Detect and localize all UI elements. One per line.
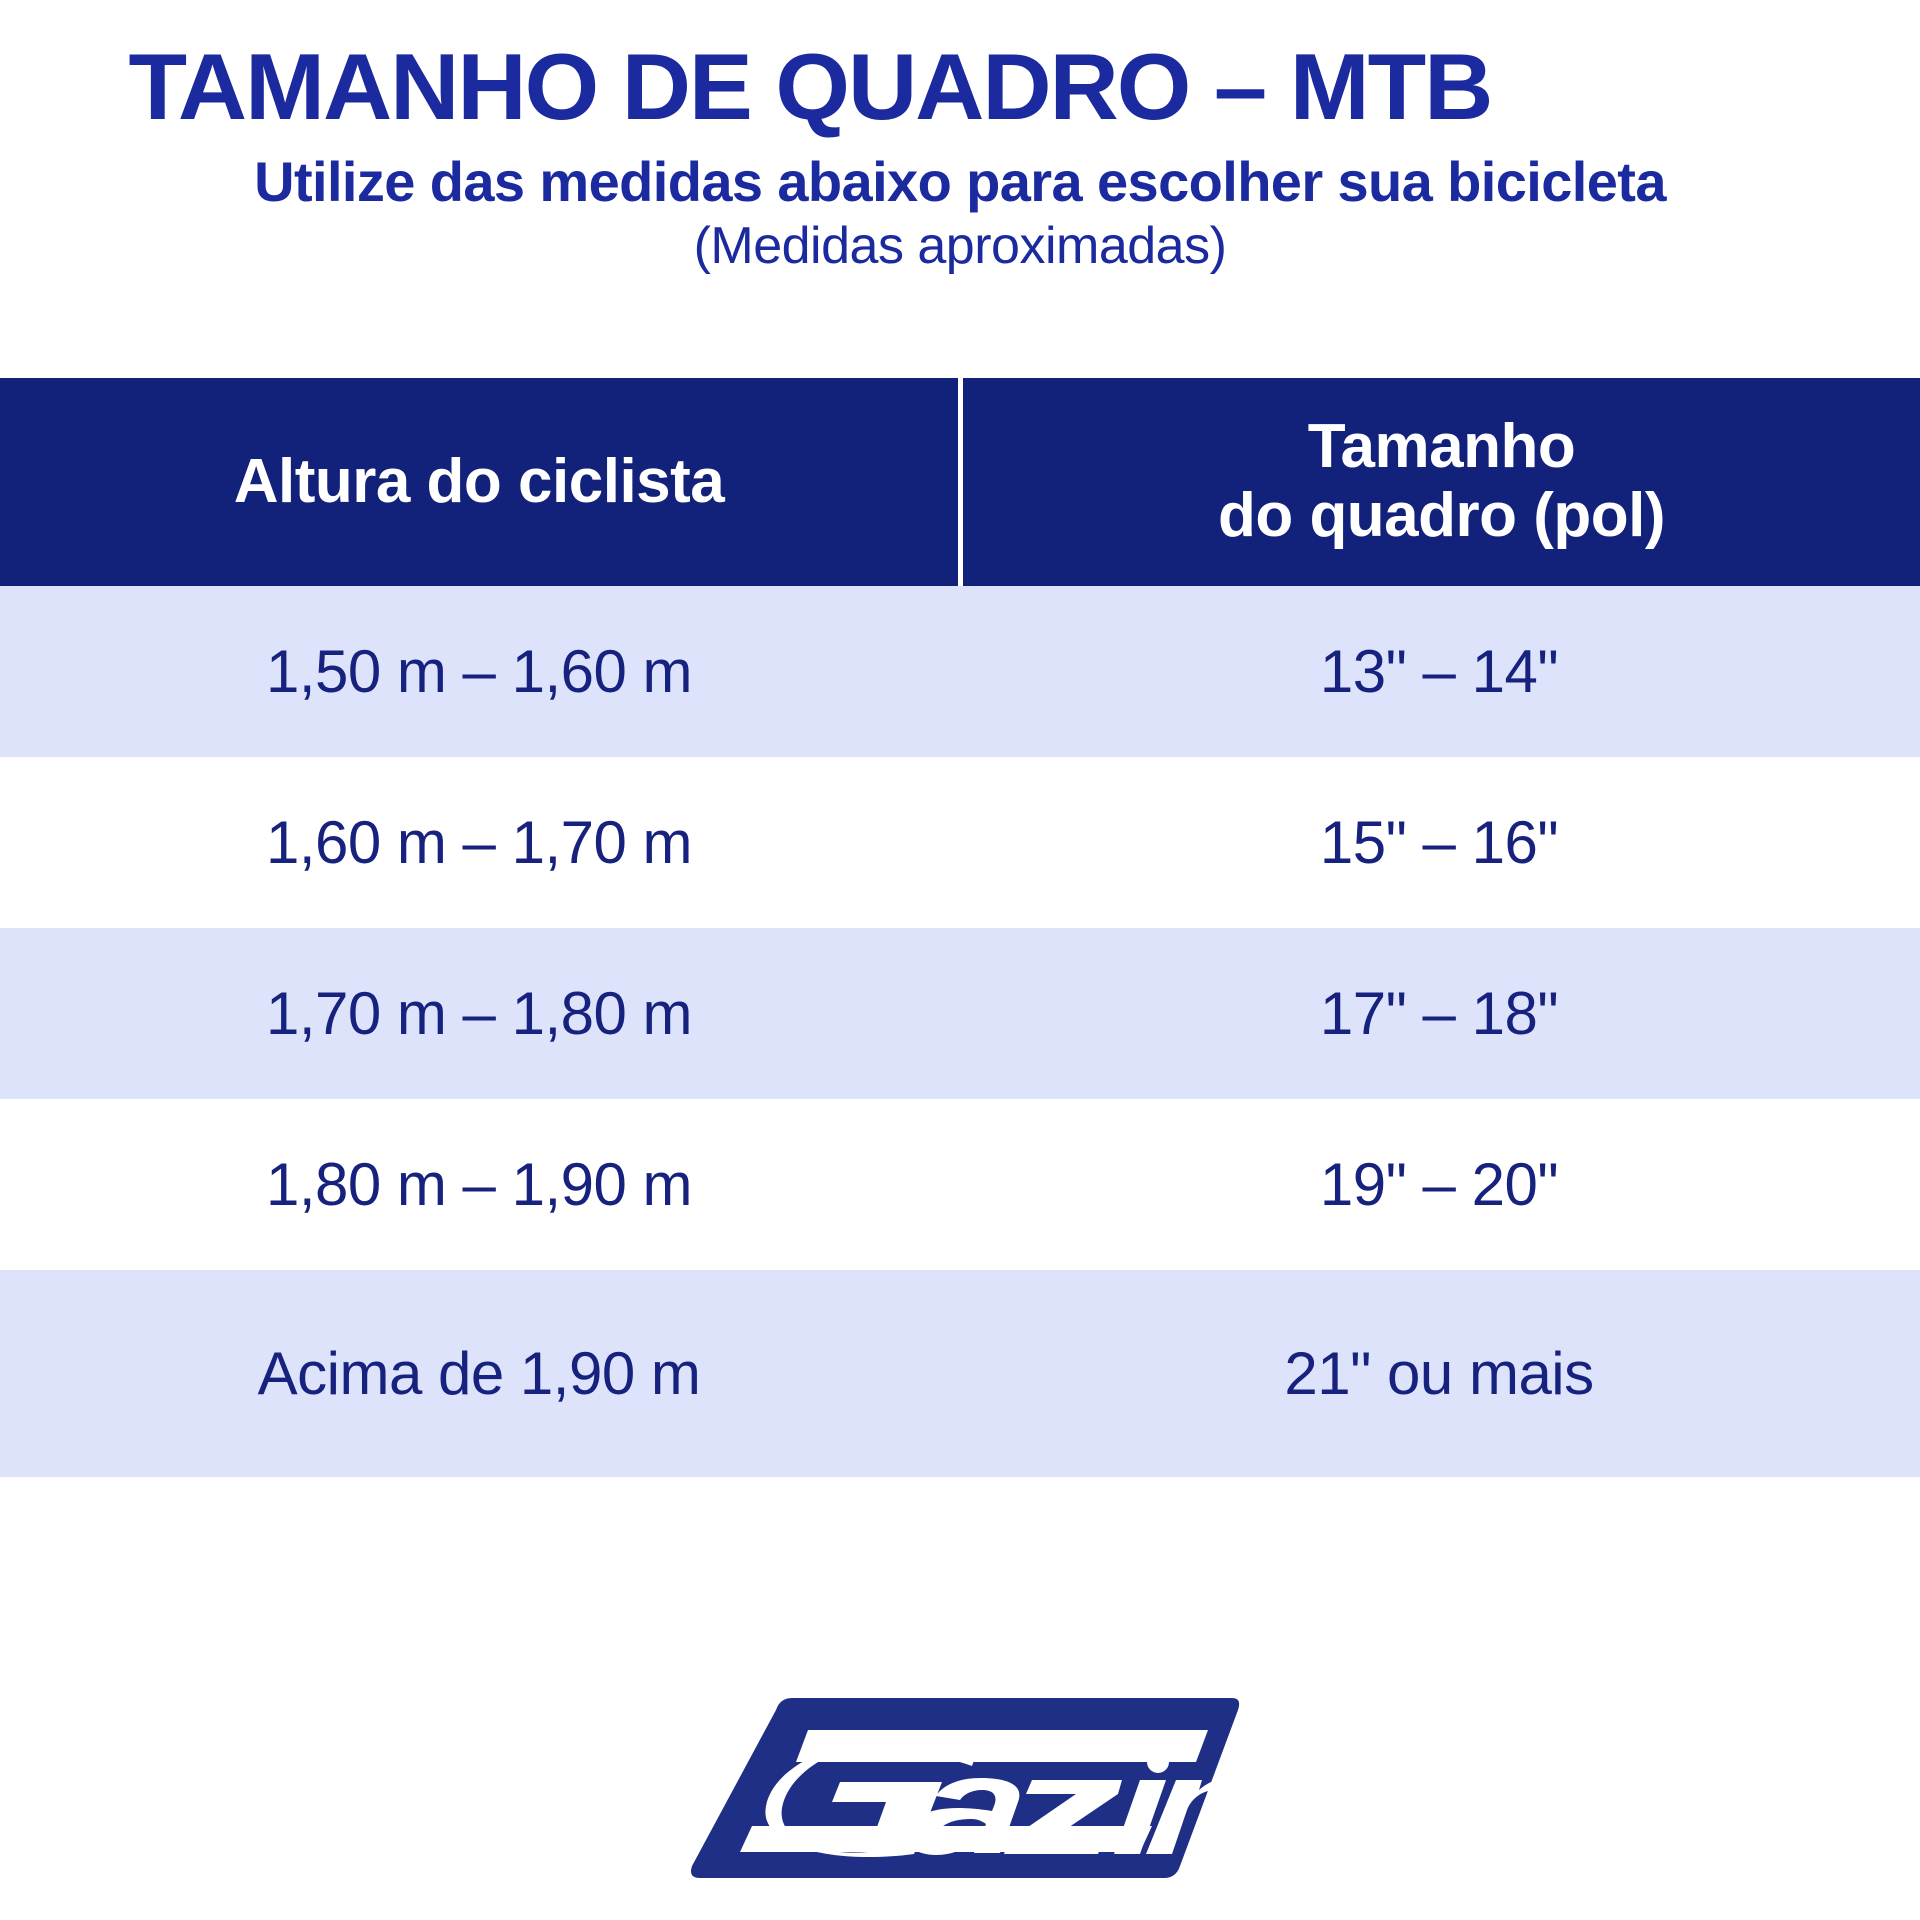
cell-rider-height: 1,70 m – 1,80 m (0, 979, 958, 1048)
page-header: TAMANHO DE QUADRO – MTB Utilize das medi… (0, 0, 1920, 275)
column-header-frame-size-line2: do quadro (pol) (1218, 481, 1665, 550)
column-header-frame-size-label: Tamanho do quadro (pol) (1218, 412, 1665, 553)
table-row: 1,70 m – 1,80 m 17" – 18" (0, 928, 1920, 1099)
cell-frame-size: 13" – 14" (958, 637, 1920, 706)
cell-rider-height: Acima de 1,90 m (0, 1339, 958, 1408)
column-header-rider-height: Altura do ciclista (0, 378, 958, 586)
table-row: 1,80 m – 1,90 m 19" – 20" (0, 1099, 1920, 1270)
column-header-rider-height-label: Altura do ciclista (234, 447, 725, 516)
cell-frame-size: 19" – 20" (958, 1150, 1920, 1219)
cell-rider-height: 1,60 m – 1,70 m (0, 808, 958, 877)
cell-rider-height: 1,50 m – 1,60 m (0, 637, 958, 706)
page-subtitle-note: (Medidas aproximadas) (0, 212, 1920, 274)
cell-frame-size: 21" ou mais (958, 1339, 1920, 1408)
page-subtitle: Utilize das medidas abaixo para escolher… (0, 134, 1920, 212)
column-header-frame-size-line1: Tamanho (1308, 412, 1575, 481)
table-row: 1,60 m – 1,70 m 15" – 16" (0, 757, 1920, 928)
gazin-logo-icon (680, 1690, 1240, 1885)
brand-logo (0, 1690, 1920, 1885)
cell-frame-size: 15" – 16" (958, 808, 1920, 877)
column-header-frame-size: Tamanho do quadro (pol) (963, 378, 1920, 586)
page-title: TAMANHO DE QUADRO – MTB (0, 0, 1920, 134)
table-header-row: Altura do ciclista Tamanho do quadro (po… (0, 378, 1920, 586)
cell-frame-size: 17" – 18" (958, 979, 1920, 1048)
table-row: 1,50 m – 1,60 m 13" – 14" (0, 586, 1920, 757)
cell-rider-height: 1,80 m – 1,90 m (0, 1150, 958, 1219)
table-row: Acima de 1,90 m 21" ou mais (0, 1270, 1920, 1477)
frame-size-table: Altura do ciclista Tamanho do quadro (po… (0, 378, 1920, 1477)
